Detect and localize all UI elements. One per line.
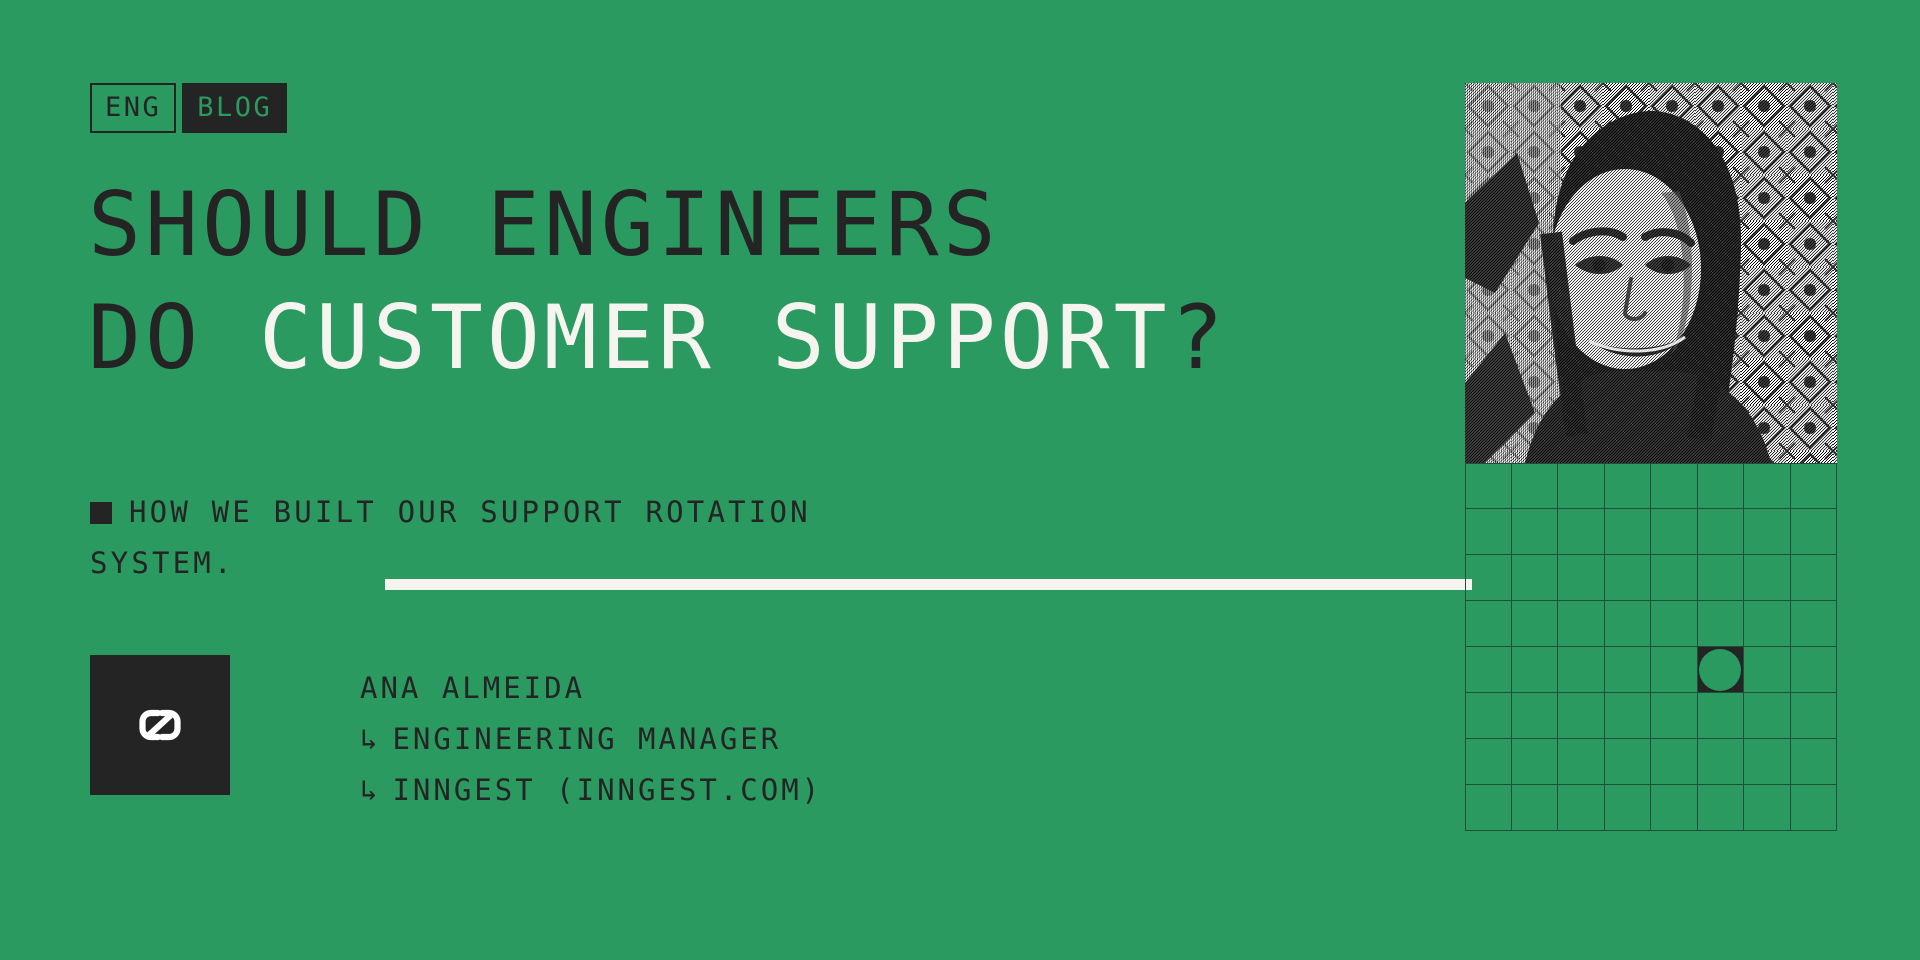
grid-cell	[1791, 601, 1838, 647]
inngest-logo-icon	[90, 655, 230, 795]
arrow-icon: ↳	[360, 765, 380, 816]
grid-cell	[1465, 785, 1512, 831]
grid-cell	[1698, 509, 1745, 555]
grid-cell	[1512, 509, 1559, 555]
grid-cell	[1605, 647, 1652, 693]
grid-cell	[1744, 785, 1791, 831]
headline-question-mark: ?	[1171, 286, 1228, 389]
arrow-icon: ↳	[360, 714, 380, 765]
grid-cell	[1558, 647, 1605, 693]
grid-cell	[1512, 785, 1559, 831]
subtitle-text: HOW WE BUILT OUR SUPPORT ROTATION SYSTEM…	[90, 495, 811, 580]
grid-cell	[1744, 555, 1791, 601]
grid-cell	[1651, 509, 1698, 555]
grid-cell	[1512, 555, 1559, 601]
author-name: ANA ALMEIDA	[360, 663, 822, 714]
grid-cell	[1465, 647, 1512, 693]
grid-cell	[1744, 601, 1791, 647]
grid-cell	[1558, 785, 1605, 831]
grid-cell	[1465, 555, 1512, 601]
grid-cell	[1791, 693, 1838, 739]
grid-cell	[1744, 463, 1791, 509]
grid-cell	[1698, 693, 1745, 739]
grid-cell	[1558, 463, 1605, 509]
grid-cell	[1558, 601, 1605, 647]
author-details: ANA ALMEIDA ↳ENGINEERING MANAGER ↳INNGES…	[360, 655, 822, 816]
grid-cell	[1605, 693, 1652, 739]
grid-cell	[1744, 739, 1791, 785]
grid-cell	[1791, 785, 1838, 831]
grid-cell	[1558, 555, 1605, 601]
author-role: ENGINEERING MANAGER	[392, 722, 781, 756]
page-subtitle: HOW WE BUILT OUR SUPPORT ROTATION SYSTEM…	[90, 487, 850, 589]
grid-cell	[1465, 693, 1512, 739]
page-title: SHOULD ENGINEERS DO CUSTOMER SUPPORT?	[88, 168, 1228, 394]
grid-cell	[1558, 739, 1605, 785]
grid-cell	[1651, 785, 1698, 831]
grid-cell	[1651, 739, 1698, 785]
category-badges: ENG BLOG	[90, 83, 287, 133]
grid-cell	[1605, 739, 1652, 785]
blog-hero-banner: { "theme": { "background": "#2a9a61", "i…	[0, 0, 1920, 960]
author-company: INNGEST (INNGEST.COM)	[392, 773, 822, 807]
headline-line-2: DO CUSTOMER SUPPORT?	[88, 281, 1228, 394]
author-photo	[1465, 83, 1837, 463]
grid-cell	[1558, 693, 1605, 739]
grid-cell	[1465, 739, 1512, 785]
grid-cell	[1465, 463, 1512, 509]
square-bullet-icon	[90, 502, 112, 524]
grid-cell	[1651, 647, 1698, 693]
author-company-line: ↳INNGEST (INNGEST.COM)	[360, 765, 822, 816]
grid-cell	[1512, 601, 1559, 647]
grid-cell	[1558, 509, 1605, 555]
grid-cell	[1651, 463, 1698, 509]
grid-cell	[1791, 739, 1838, 785]
author-block: ANA ALMEIDA ↳ENGINEERING MANAGER ↳INNGES…	[90, 655, 822, 816]
grid-cell	[1744, 647, 1791, 693]
grid-cell	[1465, 509, 1512, 555]
grid-cell	[1651, 693, 1698, 739]
badge-eng[interactable]: ENG	[90, 83, 176, 133]
headline-line-2-prefix: DO	[88, 286, 259, 389]
grid-cell	[1512, 693, 1559, 739]
headline-line-1: SHOULD ENGINEERS	[88, 168, 1228, 281]
grid-cell	[1698, 463, 1745, 509]
decorative-grid	[1465, 463, 1837, 831]
grid-cell	[1791, 647, 1838, 693]
grid-cell	[1698, 601, 1745, 647]
badge-blog[interactable]: BLOG	[182, 83, 287, 133]
grid-cell	[1605, 555, 1652, 601]
grid-cell	[1512, 739, 1559, 785]
grid-cell	[1605, 785, 1652, 831]
grid-cell	[1605, 463, 1652, 509]
grid-cell	[1605, 509, 1652, 555]
grid-cell	[1791, 463, 1838, 509]
grid-cell	[1465, 601, 1512, 647]
grid-cell	[1512, 647, 1559, 693]
grid-cell-marked	[1698, 647, 1745, 693]
grid-cell	[1698, 785, 1745, 831]
grid-cell	[1651, 601, 1698, 647]
grid-cell	[1698, 739, 1745, 785]
headline-highlight: CUSTOMER SUPPORT	[259, 286, 1171, 389]
grid-cell	[1698, 555, 1745, 601]
grid-cell	[1791, 509, 1838, 555]
grid-cell	[1744, 693, 1791, 739]
grid-cell	[1791, 555, 1838, 601]
grid-cell	[1651, 555, 1698, 601]
author-role-line: ↳ENGINEERING MANAGER	[360, 714, 822, 765]
grid-cell	[1605, 601, 1652, 647]
grid-cell	[1512, 463, 1559, 509]
grid-cell	[1744, 509, 1791, 555]
